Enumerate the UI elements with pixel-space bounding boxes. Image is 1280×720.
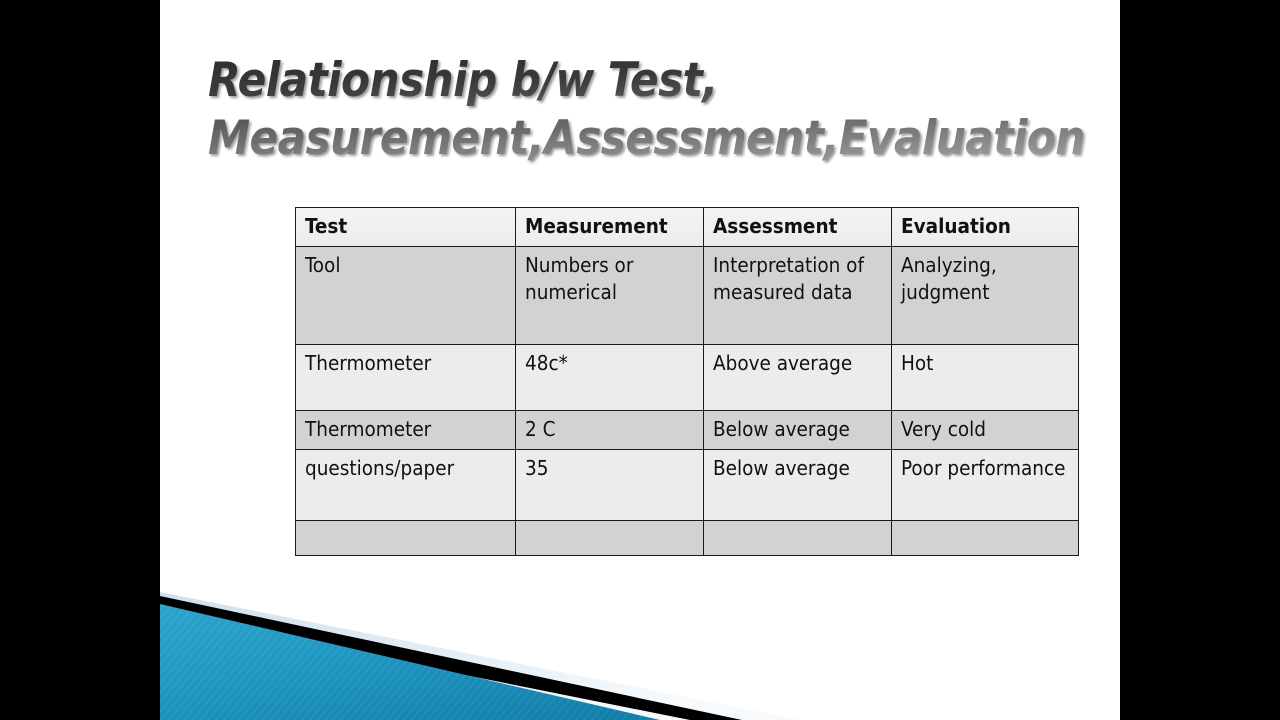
cell-assessment: Above average <box>704 345 892 411</box>
cell-evaluation: Very cold <box>892 411 1079 450</box>
cell-evaluation: Analyzing, judgment <box>892 247 1079 345</box>
video-letterbox-frame: Relationship b/w Test, Measurement,Asses… <box>0 0 1280 720</box>
table-row-empty <box>296 521 1079 556</box>
cell-measurement <box>516 521 704 556</box>
cell-measurement: 35 <box>516 450 704 521</box>
cell-evaluation <box>892 521 1079 556</box>
wedge-black-stripe <box>160 596 742 720</box>
decorative-wedge-svg <box>160 590 800 720</box>
cell-assessment: Below average <box>704 450 892 521</box>
wedge-teal <box>160 604 660 720</box>
wedge-teal-texture <box>160 590 800 720</box>
table-row: Thermometer 2 C Below average Very cold <box>296 411 1079 450</box>
cell-evaluation: Hot <box>892 345 1079 411</box>
column-header-evaluation: Evaluation <box>892 208 1079 247</box>
table-row: Thermometer 48c* Above average Hot <box>296 345 1079 411</box>
cell-evaluation: Poor performance <box>892 450 1079 521</box>
table-header-row: Test Measurement Assessment Evaluation <box>296 208 1079 247</box>
page-title: Relationship b/w Test, Measurement,Asses… <box>208 52 1098 168</box>
wedge-pale-blue <box>160 592 800 720</box>
cell-test: Thermometer <box>296 411 516 450</box>
cell-assessment: Interpretation of measured data <box>704 247 892 345</box>
cell-test: Thermometer <box>296 345 516 411</box>
cell-measurement: 2 C <box>516 411 704 450</box>
column-header-measurement: Measurement <box>516 208 704 247</box>
table-row: questions/paper 35 Below average Poor pe… <box>296 450 1079 521</box>
cell-assessment: Below average <box>704 411 892 450</box>
presentation-slide: Relationship b/w Test, Measurement,Asses… <box>160 0 1120 720</box>
letterbox-bar-left <box>0 0 160 720</box>
corner-decoration-graphic <box>160 590 800 720</box>
cell-test: questions/paper <box>296 450 516 521</box>
comparison-table: Test Measurement Assessment Evaluation T… <box>295 207 1079 556</box>
table-body: Tool Numbers or numerical Interpretation… <box>296 247 1079 556</box>
cell-measurement: 48c* <box>516 345 704 411</box>
letterbox-bar-right <box>1120 0 1280 720</box>
column-header-test: Test <box>296 208 516 247</box>
cell-measurement: Numbers or numerical <box>516 247 704 345</box>
column-header-assessment: Assessment <box>704 208 892 247</box>
table-row: Tool Numbers or numerical Interpretation… <box>296 247 1079 345</box>
table-header: Test Measurement Assessment Evaluation <box>296 208 1079 247</box>
cell-test: Tool <box>296 247 516 345</box>
cell-test <box>296 521 516 556</box>
cell-assessment <box>704 521 892 556</box>
